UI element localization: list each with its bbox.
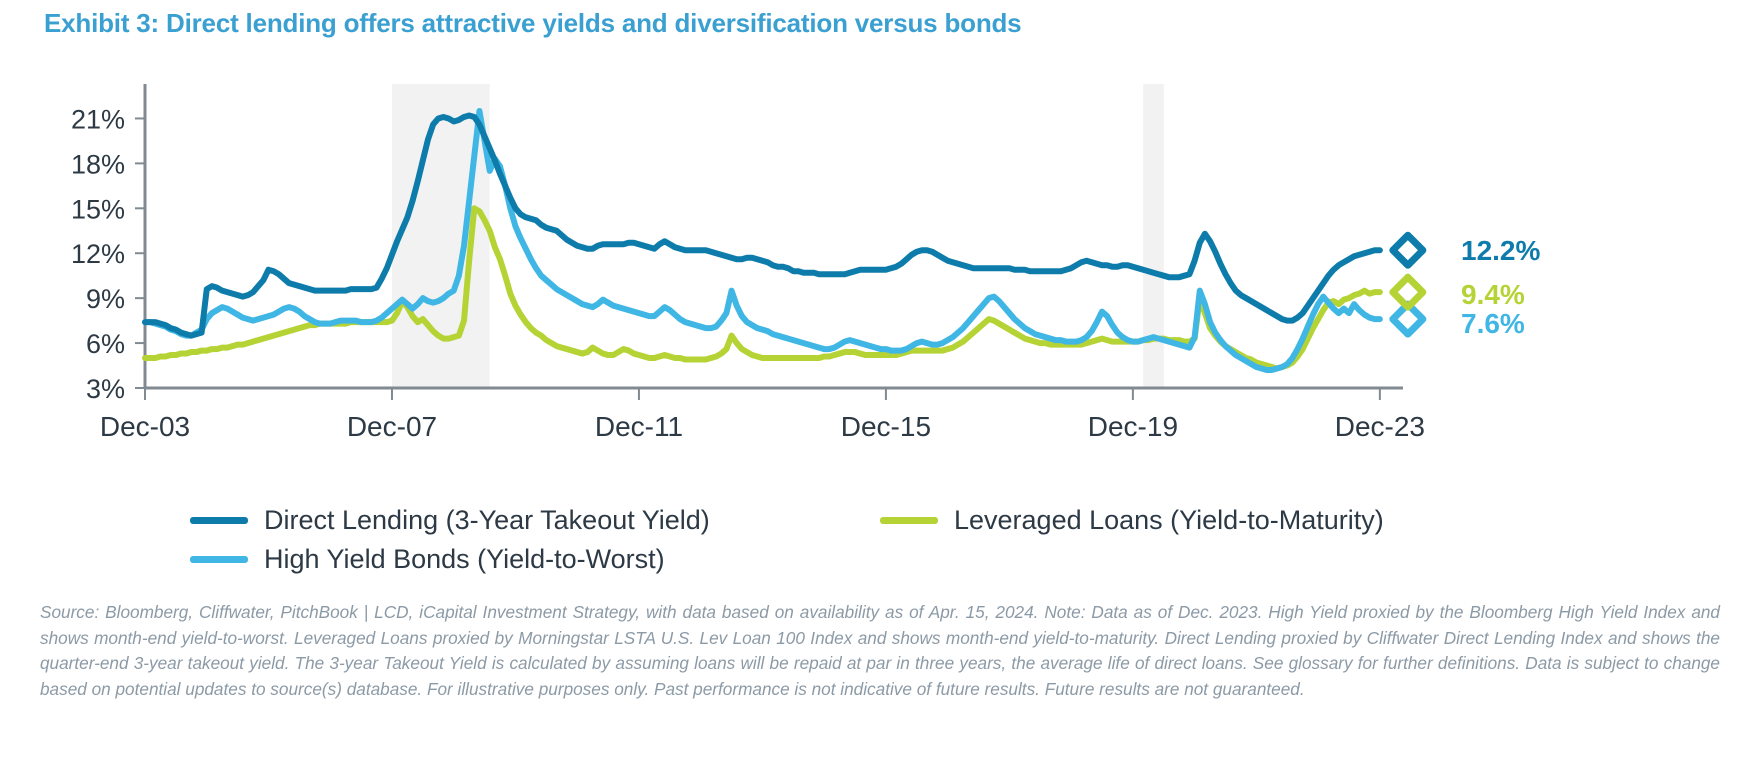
legend-label-leveraged-loans: Leveraged Loans (Yield-to-Maturity) [954,505,1384,536]
end-marker-0 [1393,235,1423,265]
legend-swatch-leveraged-loans [880,517,938,524]
end-value-label-2: 9.4% [1461,279,1525,310]
x-tick-label-2: Dec-11 [595,411,683,442]
x-tick-label-4: Dec-19 [1088,411,1178,442]
end-marker-2 [1393,277,1423,307]
chart-legend: Direct Lending (3-Year Takeout Yield) Le… [190,505,1590,583]
source-footnote: Source: Bloomberg, Cliffwater, PitchBook… [40,600,1720,702]
y-tick-label-6: 21% [71,104,125,134]
end-value-label-1: 7.6% [1461,308,1525,339]
chart-container: 3%6%9%12%15%18%21%Dec-03Dec-07Dec-11Dec-… [0,78,1760,458]
y-tick-label-2: 9% [86,284,125,314]
y-tick-label-5: 18% [71,149,125,179]
x-tick-label-3: Dec-15 [841,411,931,442]
legend-item-direct-lending[interactable]: Direct Lending (3-Year Takeout Yield) [190,505,880,536]
y-tick-label-0: 3% [86,374,125,404]
x-tick-label-5: Dec-23 [1335,411,1425,442]
legend-swatch-high-yield-bonds [190,556,248,563]
x-tick-label-1: Dec-07 [347,411,437,442]
yield-comparison-line-chart: 3%6%9%12%15%18%21%Dec-03Dec-07Dec-11Dec-… [0,78,1760,458]
legend-swatch-direct-lending [190,517,248,524]
legend-item-leveraged-loans[interactable]: Leveraged Loans (Yield-to-Maturity) [880,505,1384,536]
legend-label-high-yield-bonds: High Yield Bonds (Yield-to-Worst) [264,544,665,575]
y-tick-label-4: 15% [71,194,125,224]
legend-label-direct-lending: Direct Lending (3-Year Takeout Yield) [264,505,710,536]
page-title: Exhibit 3: Direct lending offers attract… [44,8,1021,39]
x-tick-label-0: Dec-03 [100,411,190,442]
y-tick-label-3: 12% [71,239,125,269]
end-value-label-0: 12.2% [1461,235,1540,266]
series-line-0 [145,115,1380,335]
y-tick-label-1: 6% [86,329,125,359]
legend-item-high-yield-bonds[interactable]: High Yield Bonds (Yield-to-Worst) [190,544,880,575]
series-line-1 [145,111,1380,370]
